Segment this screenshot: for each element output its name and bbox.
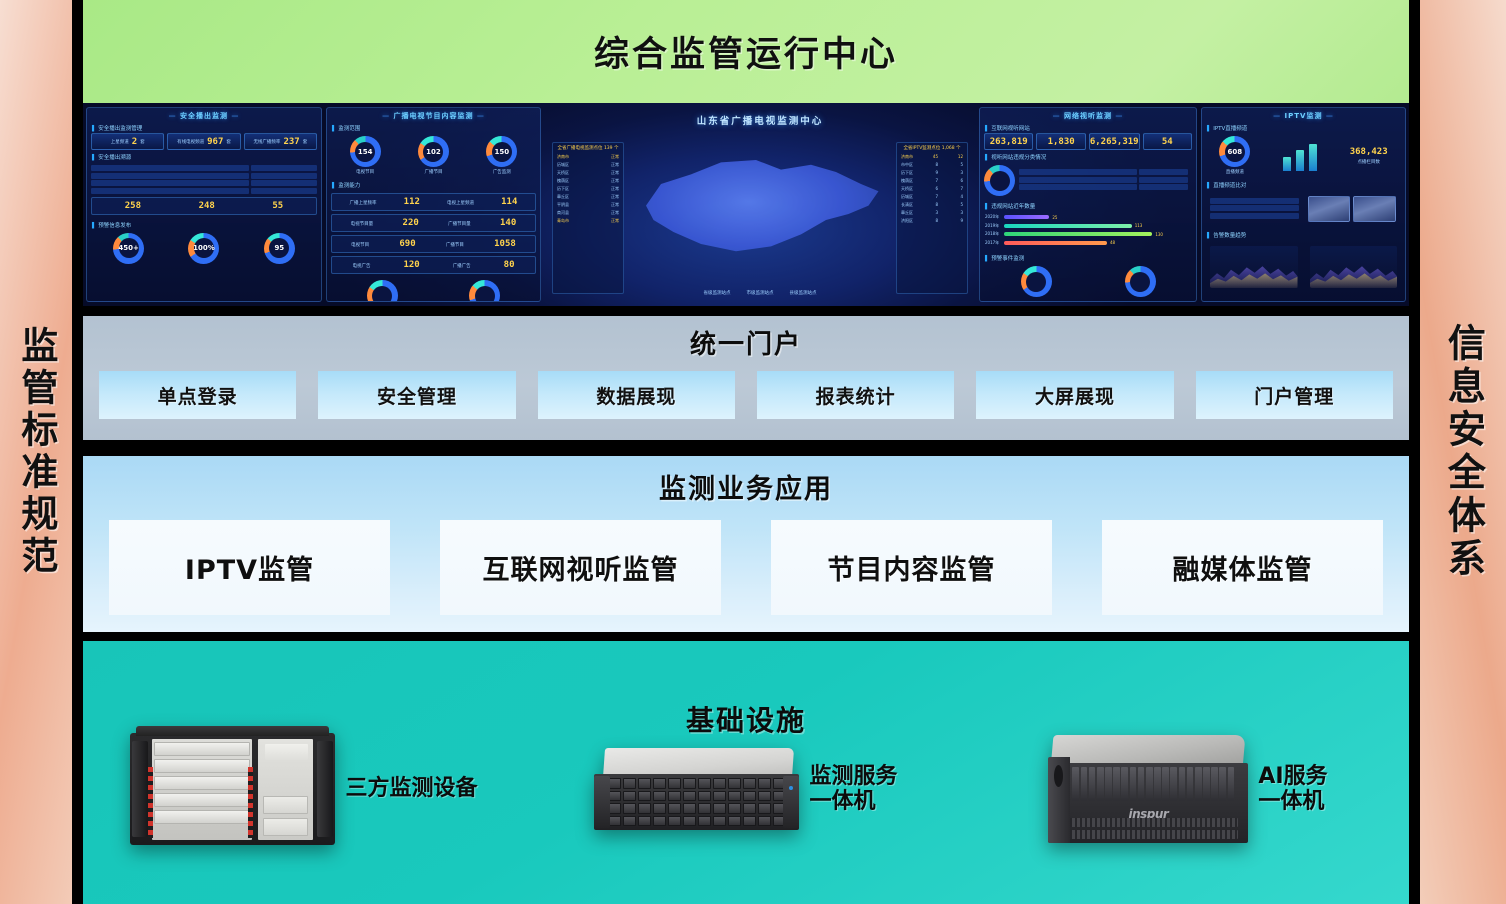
stat-box-program-4: 电视广告 120 广播广告 80 <box>331 256 536 274</box>
portal-item-bigscreen[interactable]: 大屏展现 <box>976 371 1173 419</box>
kpi-label: 上星频道 <box>111 139 129 145</box>
table-cell: 45 <box>933 154 938 160</box>
map-right-table: 全省IPTV监测点位 1,068 个 济南市4512 市中区85 历下区93 槐… <box>896 142 968 294</box>
left-side-label: 监管标准规范 <box>17 326 55 578</box>
stat-value: 1058 <box>494 239 516 249</box>
dashboard-panel-program-content: 广播电视节目内容监测 监测范围 154 电视节目 102 广播节目 <box>326 107 541 302</box>
progress-donut: 100% <box>188 233 219 264</box>
dashboard-panel-safe-broadcast: 安全播出监测 安全播出监测管理 上星频道 2 套 有线电视频道 967 <box>86 107 322 302</box>
kpi-card: 上星频道 2 套 <box>91 133 164 150</box>
table-cell: 市中区 <box>901 162 913 168</box>
mini-stat-value: 55 <box>272 201 283 211</box>
application-card-row: IPTV监管 互联网视听监管 节目内容监管 融媒体监管 <box>83 506 1409 615</box>
panel-sub-label: 安全播出溯源 <box>87 150 321 162</box>
table-cell: 6 <box>960 178 963 184</box>
table-cell: 济阳区 <box>901 218 913 224</box>
table-cell: 7 <box>935 178 938 184</box>
panel-title-program-content: 广播电视节目内容监测 <box>327 108 540 121</box>
operations-center-title: 综合监管运行中心 <box>83 0 1409 103</box>
donut-caption: 直播频道 <box>1226 169 1244 175</box>
stat-value: 114 <box>501 197 517 207</box>
dashboard-screenshot: 安全播出监测 安全播出监测管理 上星频道 2 套 有线电视频道 967 <box>83 103 1409 306</box>
third-party-monitoring-chassis-icon <box>130 733 335 845</box>
table-cell: 天桥区 <box>901 186 913 192</box>
kpi-row-safe-broadcast: 上星频道 2 套 有线电视频道 967 套 无线广播频率 <box>87 133 321 150</box>
donut-value: 608 <box>1225 142 1245 162</box>
panel-sub-label: 直播频道比对 <box>1202 178 1405 190</box>
panel-title-iptv: IPTV监测 <box>1202 108 1405 121</box>
table-cell: 正常 <box>611 186 619 192</box>
center-column: 综合监管运行中心 安全播出监测 安全播出监测管理 上星频道 2 套 <box>72 0 1420 904</box>
table-cell: 7 <box>960 186 963 192</box>
iptv-compare-row <box>1202 190 1405 228</box>
iptv-bar-chart <box>1277 141 1323 171</box>
portal-item-report-stats[interactable]: 报表统计 <box>757 371 954 419</box>
infra-item-monitoring-server: 监测服务 一体机 <box>525 733 967 845</box>
table-cell: 商河县 <box>557 210 569 216</box>
panel-sub-label: 互联网视听网站 <box>980 121 1196 133</box>
panel-sub-label: 监测范围 <box>327 121 540 133</box>
table-cell: 长清区 <box>901 202 913 208</box>
bar-year: 2017年 <box>985 240 1001 246</box>
panel-sub-label: IPTV直播频道 <box>1202 121 1405 133</box>
map-right-table-header: 全省IPTV监测点位 1,068 个 <box>897 143 967 153</box>
dashboard-panel-iptv: IPTV监测 IPTV直播频道 608 直播频道 368,423 点播栏目数 <box>1201 107 1406 302</box>
table-cell: 正常 <box>611 178 619 184</box>
kpi-unit: 套 <box>140 139 145 145</box>
stat-value: 690 <box>399 239 415 249</box>
table-cell: 正常 <box>611 202 619 208</box>
table-cell: 历城区 <box>557 162 569 168</box>
table-cell: 3 <box>935 210 938 216</box>
infrastructure-section: 基础设施 三方监测设备 <box>83 641 1409 904</box>
stat-label: 点播栏目数 <box>1357 159 1380 165</box>
donut-row-program: 154 电视节目 102 广播节目 150 广告监测 <box>327 133 540 178</box>
donut-value: 150 <box>492 142 512 162</box>
table-cell: 青岛市 <box>557 218 569 224</box>
donut-row-yearly <box>327 277 540 302</box>
kpi-label: 有线电视频道 <box>177 139 204 145</box>
legend-item: 市级监测站点 <box>747 290 774 296</box>
app-card-converged[interactable]: 融媒体监管 <box>1102 520 1383 615</box>
infra-label-ai-server: AI服务 一体机 <box>1258 764 1327 815</box>
kpi-card: 1,830 <box>1036 133 1085 150</box>
kpi-value: 54 <box>1162 137 1173 147</box>
stat-label: 广播节目 <box>446 242 464 248</box>
stat-value: 120 <box>403 260 419 270</box>
table-cell: 6 <box>935 186 938 192</box>
donut-value: 100% <box>194 238 214 258</box>
stat-label: 电视节目量 <box>351 221 374 227</box>
table-cell: 槐荫区 <box>557 178 569 184</box>
bar-value: 48 <box>1110 240 1115 245</box>
program-donut: 150 <box>486 136 517 167</box>
violation-donut <box>984 165 1015 196</box>
flow-diagram-placeholder <box>91 165 317 194</box>
table-cell: 4 <box>960 194 963 200</box>
panel-sub-label: 预警信息发布 <box>87 218 321 230</box>
dashboard-canvas: 安全播出监测 安全播出监测管理 上星频道 2 套 有线电视频道 967 <box>83 103 1409 306</box>
stat-label: 广播节目量 <box>448 221 471 227</box>
table-cell: 平阴县 <box>557 202 569 208</box>
alert-donut-right <box>1125 266 1156 297</box>
donut-item: 150 广告监测 <box>486 136 517 175</box>
yearly-program-donut <box>367 280 398 302</box>
panel-sub-label: 告警数量趋势 <box>1202 228 1405 240</box>
stat-label: 电视节目 <box>351 242 369 248</box>
donut-value: 450+ <box>119 238 139 258</box>
bar-year: 2018年 <box>985 231 1001 237</box>
panel-sub-label: 安全播出监测管理 <box>87 121 321 133</box>
mini-stat-value: 248 <box>199 201 215 211</box>
iptv-gauge: 608 直播频道 <box>1219 136 1250 175</box>
bar-year: 2019年 <box>985 223 1001 229</box>
table-cell: 8 <box>935 202 938 208</box>
ai-inspur-server-icon: inspur <box>1048 735 1248 843</box>
violation-notice-table <box>1019 169 1188 192</box>
table-cell: 章丘区 <box>557 194 569 200</box>
stat-box-program-3: 电视节目 690 广播节目 1058 <box>331 235 536 253</box>
stat-box-program-1: 广播上星频率 112 电视上星频道 114 <box>331 193 536 211</box>
program-donut: 102 <box>418 136 449 167</box>
kpi-unit: 套 <box>303 139 308 145</box>
map-left-table: 全省广播电视监测点位 139 个 济南市正常 历城区正常 天桥区正常 槐荫区正常… <box>552 142 624 294</box>
alert-type-trend-chart <box>1310 246 1398 288</box>
legend-item: 县级监测站点 <box>790 290 817 296</box>
table-cell: 3 <box>960 210 963 216</box>
app-card-program[interactable]: 节目内容监管 <box>771 520 1052 615</box>
table-cell: 正常 <box>611 170 619 176</box>
kpi-card: 54 <box>1143 133 1192 150</box>
donut-value: 154 <box>355 142 375 162</box>
table-cell: 正常 <box>611 194 619 200</box>
alert-count-trend-chart <box>1210 246 1298 288</box>
kpi-value: 6,265,319 <box>1090 137 1139 147</box>
right-side-band: 信息安全体系 <box>1420 0 1506 904</box>
panel-title-safe-broadcast: 安全播出监测 <box>87 108 321 121</box>
donut-value: 102 <box>423 142 443 162</box>
table-cell: 正常 <box>611 154 619 160</box>
left-side-band: 监管标准规范 <box>0 0 72 904</box>
table-cell: 8 <box>935 218 938 224</box>
mini-stat-value: 258 <box>125 201 141 211</box>
stat-value: 368,423 <box>1350 147 1388 157</box>
unified-portal-title: 统一门户 <box>83 316 1409 361</box>
map-left-table-header: 全省广播电视监测点位 139 个 <box>553 143 623 153</box>
operations-center-section: 综合监管运行中心 安全播出监测 安全播出监测管理 上星频道 2 套 <box>83 0 1409 306</box>
stat-label: 广播上星频率 <box>350 200 377 206</box>
gauge-row: 450+ 100% 95 <box>87 230 321 267</box>
bar-value: 25 <box>1052 215 1057 220</box>
infra-label-third-party: 三方监测设备 <box>345 776 477 801</box>
kpi-row-net-av: 263,819 1,830 6,265,319 54 <box>980 133 1196 150</box>
donut-caption: 广播节目 <box>424 169 442 175</box>
gauge-item: 450+ <box>113 233 144 264</box>
unified-portal-section: 统一门户 单点登录 安全管理 数据展现 报表统计 大屏展现 门户管理 <box>83 316 1409 440</box>
kpi-label: 无线广播频率 <box>253 139 280 145</box>
right-side-label: 信息安全体系 <box>1444 323 1483 581</box>
map-legend: 省级监测站点 市级监测站点 县级监测站点 <box>546 290 974 296</box>
table-cell: 正常 <box>611 218 619 224</box>
infra-item-ai-server: inspur AI服务 一体机 <box>967 733 1409 845</box>
bar-value: 113 <box>1135 223 1143 228</box>
app-card-internet-av[interactable]: 互联网视听监管 <box>440 520 721 615</box>
yearly-ad-donut <box>469 280 500 302</box>
iptv-vod-stat: 368,423 点播栏目数 <box>1350 147 1388 165</box>
donut-item: 102 广播节目 <box>418 136 449 175</box>
stat-label: 电视上星频道 <box>447 200 474 206</box>
yearly-violation-bars: 2020年25 2019年113 2018年130 2017年48 <box>980 211 1196 251</box>
table-cell: 天桥区 <box>557 170 569 176</box>
kpi-value: 237 <box>283 137 299 147</box>
donut-caption: 广告监测 <box>493 169 511 175</box>
table-cell: 7 <box>935 194 938 200</box>
stat-box-program-2: 电视节目量 220 广播节目量 140 <box>331 214 536 232</box>
gauge-item: 95 <box>264 233 295 264</box>
panel-title-net-av: 网络视听监测 <box>980 108 1196 121</box>
kpi-card: 无线广播频率 237 套 <box>244 133 317 150</box>
table-cell: 正常 <box>611 210 619 216</box>
gauge-item: 100% <box>188 233 219 264</box>
donut-value: 95 <box>269 238 289 258</box>
kpi-card: 有线电视频道 967 套 <box>167 133 240 150</box>
infra-item-third-party: 三方监测设备 <box>83 733 525 845</box>
monitoring-rack-server-icon <box>594 748 799 830</box>
kpi-card: 6,265,319 <box>1089 133 1140 150</box>
panel-sub-label: 监测能力 <box>327 178 540 190</box>
portal-item-security[interactable]: 安全管理 <box>318 371 515 419</box>
kpi-value: 967 <box>207 137 223 147</box>
portal-item-portal-admin[interactable]: 门户管理 <box>1196 371 1393 419</box>
infra-label-monitoring-server: 监测服务 一体机 <box>809 764 897 815</box>
violation-donut-row <box>980 162 1196 199</box>
stat-value: 80 <box>504 260 515 270</box>
table-cell: 历下区 <box>901 170 913 176</box>
panel-sub-label: 预警事件监测 <box>980 251 1196 263</box>
table-cell: 正常 <box>611 162 619 168</box>
kpi-value: 1,830 <box>1048 137 1075 147</box>
stat-value: 112 <box>404 197 420 207</box>
infrastructure-title: 基础设施 <box>83 641 1409 739</box>
stat-value: 220 <box>403 218 419 228</box>
stat-label: 电视广告 <box>352 263 370 269</box>
progress-donut: 95 <box>264 233 295 264</box>
kpi-value: 2 <box>132 137 137 147</box>
monitoring-applications-title: 监测业务应用 <box>83 456 1409 506</box>
panel-sub-label: 视听网站违规分类情况 <box>980 150 1196 162</box>
kpi-value: 263,819 <box>990 137 1028 147</box>
progress-donut: 450+ <box>113 233 144 264</box>
iptv-trend-row <box>1202 240 1405 294</box>
table-cell: 8 <box>935 162 938 168</box>
video-thumbnail <box>1308 196 1351 222</box>
shandong-map-shape <box>636 148 886 268</box>
app-card-iptv[interactable]: IPTV监管 <box>109 520 390 615</box>
stat-value: 140 <box>500 218 516 228</box>
iptv-alert-thumbnails <box>1303 193 1402 225</box>
table-cell: 槐荫区 <box>901 178 913 184</box>
table-cell: 章丘区 <box>901 210 913 216</box>
table-cell: 历下区 <box>557 186 569 192</box>
table-cell: 9 <box>935 170 938 176</box>
infographic-root: 监管标准规范 信息安全体系 综合监管运行中心 安全播出监测 安全播出监测管理 上… <box>0 0 1506 904</box>
bar-value: 130 <box>1155 232 1163 237</box>
donut-caption: 电视节目 <box>356 169 374 175</box>
iptv-channel-donut: 608 <box>1219 136 1250 167</box>
kpi-unit: 套 <box>226 139 231 145</box>
table-cell: 9 <box>960 218 963 224</box>
table-cell: 3 <box>960 170 963 176</box>
portal-chip-row: 单点登录 安全管理 数据展现 报表统计 大屏展现 门户管理 <box>83 361 1409 419</box>
iptv-compare-left <box>1210 198 1299 221</box>
table-cell: 5 <box>960 162 963 168</box>
bar-year: 2020年 <box>985 214 1001 220</box>
program-donut: 154 <box>350 136 381 167</box>
donut-item: 154 电视节目 <box>350 136 381 175</box>
alert-donut-left <box>1021 266 1052 297</box>
alert-donut-row <box>980 263 1196 300</box>
video-thumbnail <box>1353 196 1396 222</box>
panel-sub-label: 违规网站近年数量 <box>980 199 1196 211</box>
infrastructure-item-row: 三方监测设备 <box>83 733 1409 845</box>
portal-item-sso[interactable]: 单点登录 <box>99 371 296 419</box>
table-cell: 历城区 <box>901 194 913 200</box>
iptv-channel-row: 608 直播频道 368,423 点播栏目数 <box>1202 133 1405 178</box>
mini-stats-safe-broadcast: 258 248 55 <box>91 197 317 215</box>
table-cell: 济南市 <box>557 154 569 160</box>
monitoring-applications-section: 监测业务应用 IPTV监管 互联网视听监管 节目内容监管 融媒体监管 <box>83 456 1409 632</box>
map-center-title: 山东省广播电视监测中心 <box>546 108 974 127</box>
dashboard-panel-map: 山东省广播电视监测中心 全省广播电视监测点位 139 个 济南市正常 历城区正常… <box>545 107 975 302</box>
table-cell: 12 <box>958 154 963 160</box>
portal-item-data-display[interactable]: 数据展现 <box>538 371 735 419</box>
table-cell: 5 <box>960 202 963 208</box>
legend-item: 省级监测站点 <box>704 290 731 296</box>
kpi-card: 263,819 <box>984 133 1033 150</box>
stat-label: 广播广告 <box>453 263 471 269</box>
dashboard-panel-net-av: 网络视听监测 互联网视听网站 263,819 1,830 6,265,319 5… <box>979 107 1197 302</box>
table-cell: 济南市 <box>901 154 913 160</box>
